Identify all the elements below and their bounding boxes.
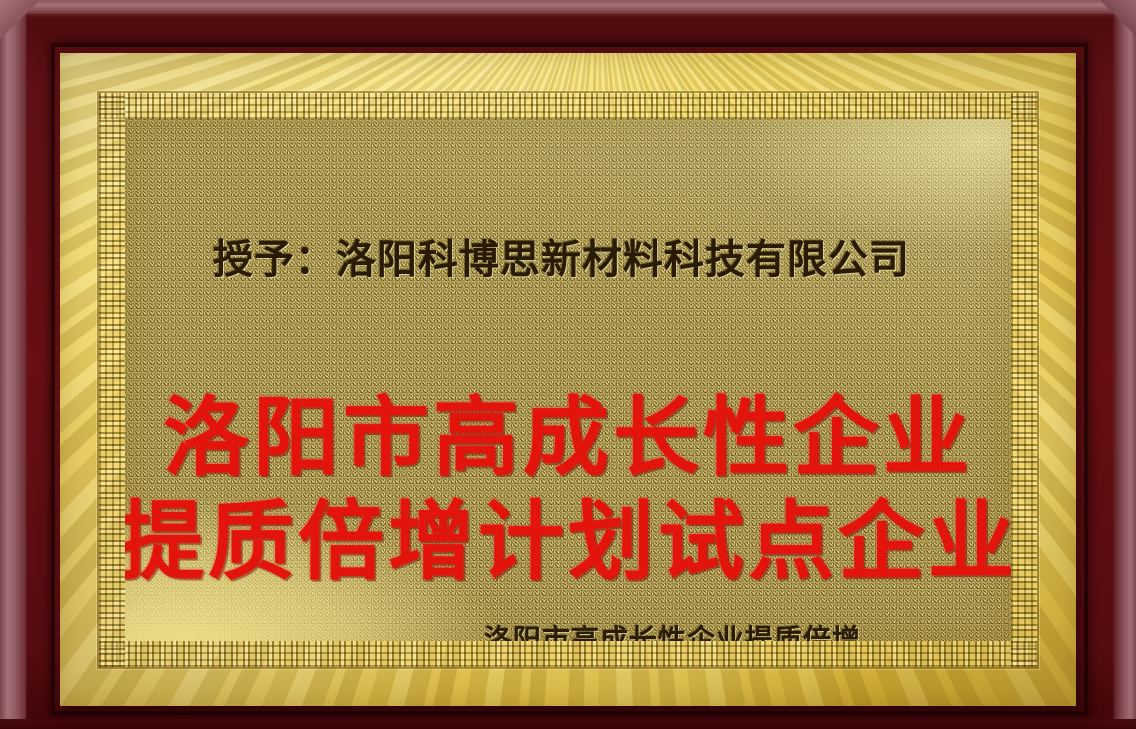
meander-border-left xyxy=(99,93,125,667)
award-plaque: 授予：洛阳科博思新材料科技有限公司 洛阳市高成长性企业 提质倍增计划试点企业 洛… xyxy=(0,0,1136,729)
issuer-signature-block: 洛阳市高成长性企业提质倍增 计划工作领导小组 二〇二一年九月 xyxy=(484,619,861,641)
frame-corner-top-right xyxy=(1100,0,1136,36)
sandblasted-field: 授予：洛阳科博思新材料科技有限公司 洛阳市高成长性企业 提质倍增计划试点企业 洛… xyxy=(125,119,1011,641)
meander-border-right xyxy=(1011,93,1037,667)
meander-border-bottom xyxy=(99,641,1037,667)
frame-bevel-right xyxy=(1114,0,1136,729)
plaque-text-layer: 授予：洛阳科博思新材料科技有限公司 洛阳市高成长性企业 提质倍增计划试点企业 洛… xyxy=(125,119,1011,641)
issuer-line-1: 洛阳市高成长性企业提质倍增 xyxy=(484,619,861,641)
award-recipient-line: 授予：洛阳科博思新材料科技有限公司 xyxy=(213,227,910,285)
gold-plate: 授予：洛阳科博思新材料科技有限公司 洛阳市高成长性企业 提质倍增计划试点企业 洛… xyxy=(60,53,1076,706)
award-title-line-2: 提质倍增计划试点企业 xyxy=(125,471,1011,596)
frame-bevel-left xyxy=(0,0,26,729)
meander-border-top xyxy=(99,93,1037,119)
frame-bevel-bottom xyxy=(0,719,1136,729)
frame-bevel-top xyxy=(0,0,1136,14)
frame-corner-top-left xyxy=(0,0,40,40)
engraved-inner-panel: 授予：洛阳科博思新材料科技有限公司 洛阳市高成长性企业 提质倍增计划试点企业 洛… xyxy=(97,91,1039,669)
